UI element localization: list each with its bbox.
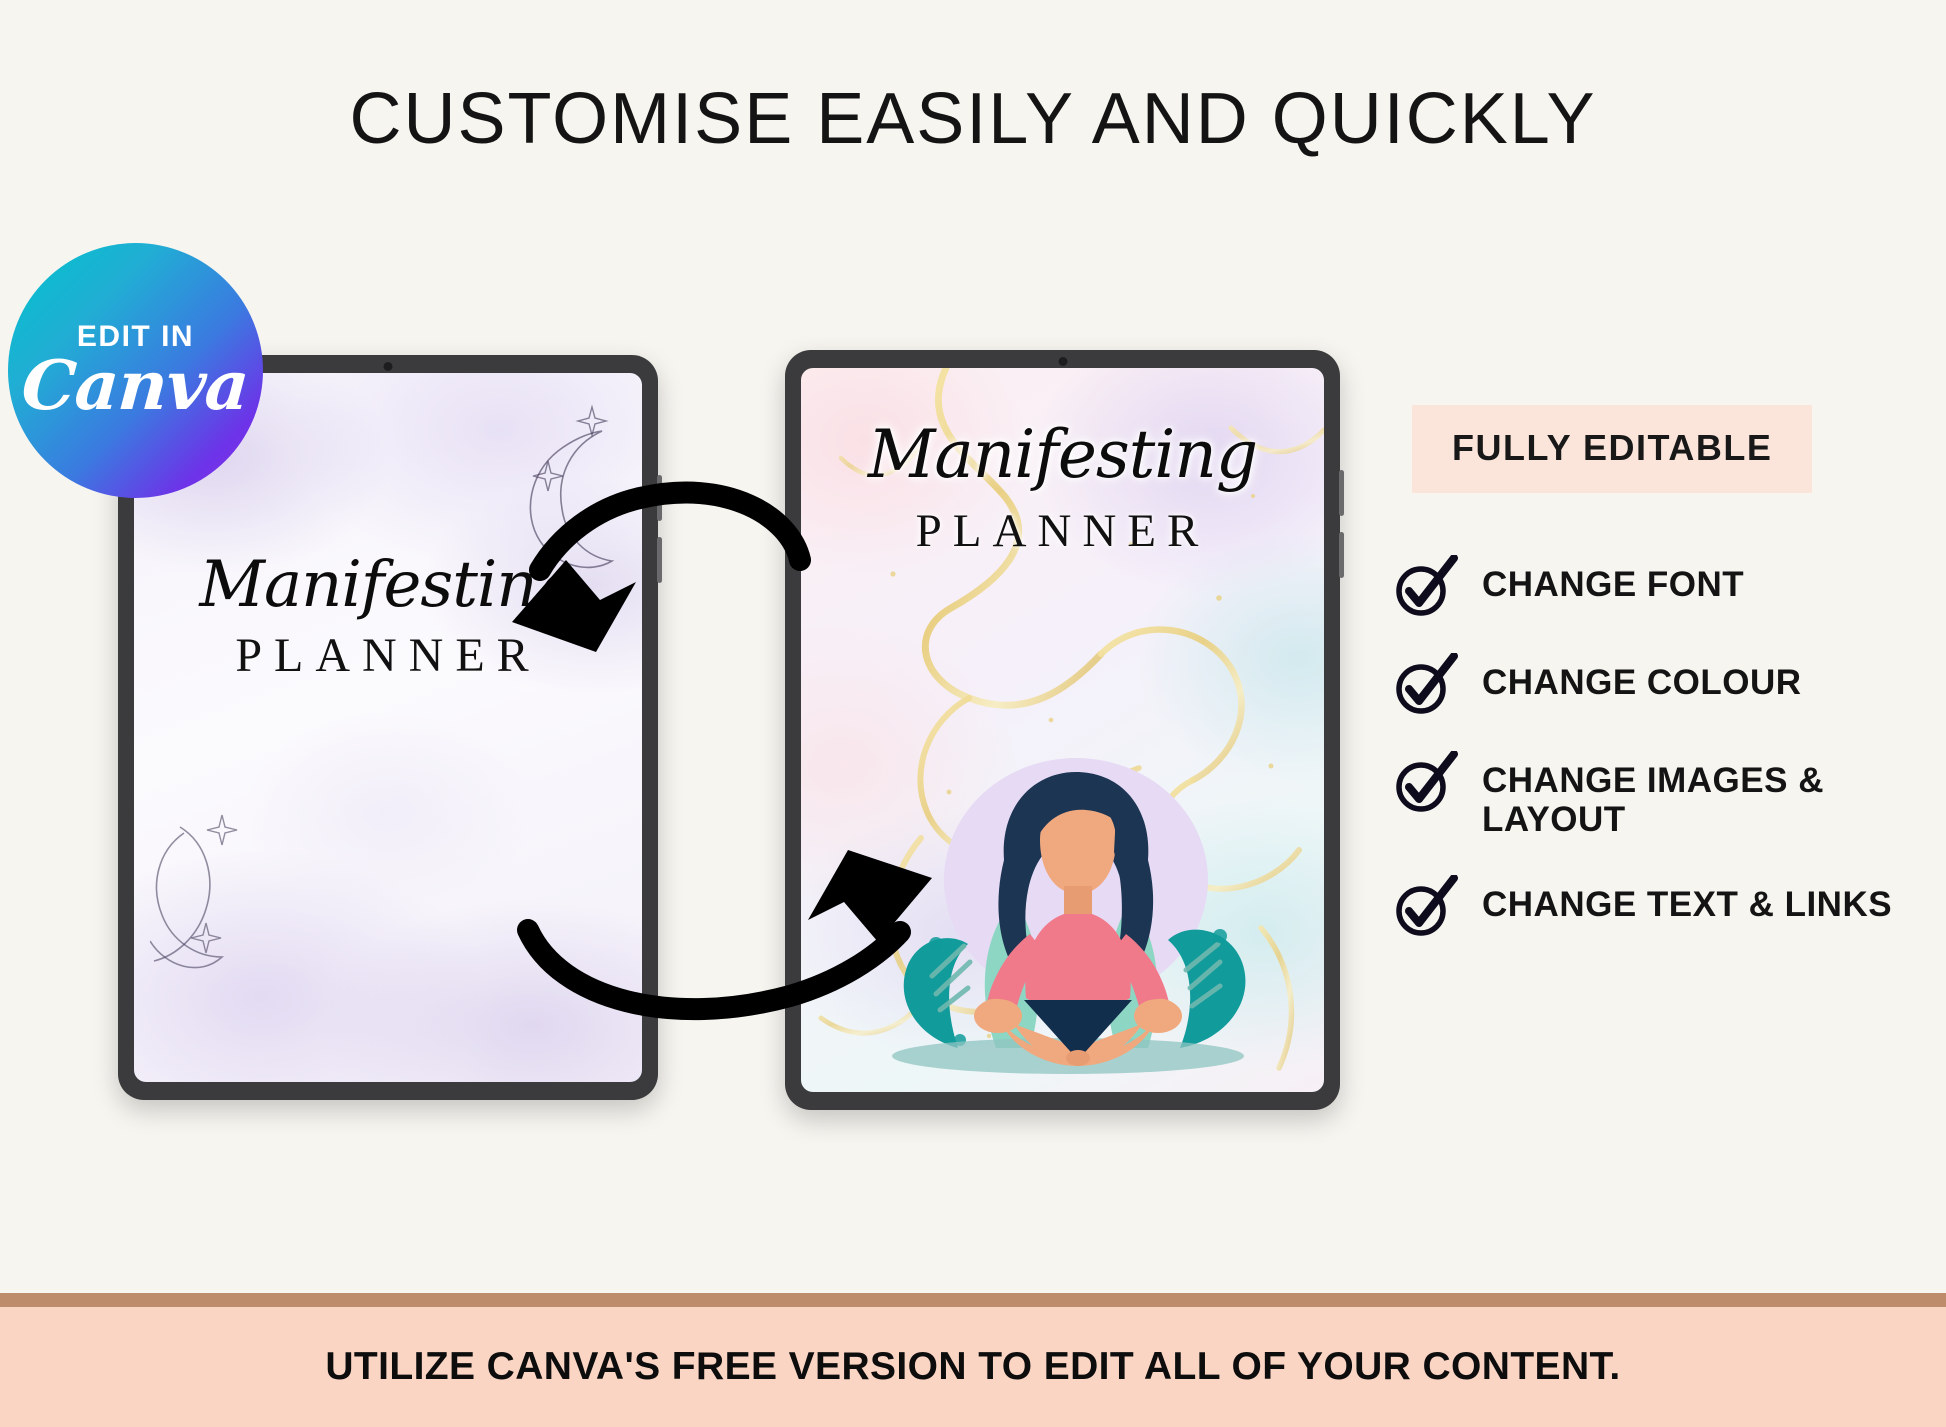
check-circle-icon [1390, 555, 1458, 617]
edit-in-canva-badge[interactable]: EDIT IN Canva [8, 243, 263, 498]
tablet-screen-after: Manifesting PLANNER [801, 368, 1324, 1092]
canva-wordmark: Canva [20, 354, 251, 419]
volume-down-button[interactable] [657, 537, 662, 583]
feature-list: CHANGE FONT CHANGE COLOUR CHANGE IMAGES … [1390, 559, 1910, 937]
feature-item-change-images-layout[interactable]: CHANGE IMAGES & LAYOUT [1390, 755, 1910, 839]
cover-subtitle-before: PLANNER [134, 628, 642, 683]
volume-up-button[interactable] [1339, 470, 1344, 516]
fully-editable-badge: FULLY EDITABLE [1412, 405, 1812, 493]
feature-item-change-text-links[interactable]: CHANGE TEXT & LINKS [1390, 879, 1910, 937]
volume-up-button[interactable] [657, 475, 662, 521]
fully-editable-label: FULLY EDITABLE [1452, 427, 1772, 468]
feature-label: CHANGE COLOUR [1482, 657, 1802, 702]
footer-banner: UTILIZE CANVA'S FREE VERSION TO EDIT ALL… [0, 1307, 1946, 1427]
cover-title-after: Manifesting [801, 416, 1324, 493]
camera-dot-icon [1058, 357, 1067, 366]
footer-divider [0, 1293, 1946, 1307]
page-title: CUSTOMISE EASILY AND QUICKLY [0, 78, 1946, 160]
cover-subtitle-after: PLANNER [801, 504, 1324, 558]
check-circle-icon [1390, 751, 1458, 813]
feature-item-change-colour[interactable]: CHANGE COLOUR [1390, 657, 1910, 715]
check-circle-icon [1390, 875, 1458, 937]
feature-column: FULLY EDITABLE CHANGE FONT CHANGE COLOUR… [1390, 405, 1910, 977]
meditating-woman-illustration [828, 748, 1298, 1078]
tablet-device-after[interactable]: Manifesting PLANNER [785, 350, 1340, 1110]
footer-text: UTILIZE CANVA'S FREE VERSION TO EDIT ALL… [325, 1345, 1620, 1389]
cover-title-before: Manifesting [134, 548, 642, 622]
feature-label: CHANGE FONT [1482, 559, 1744, 604]
camera-dot-icon [384, 362, 393, 371]
feature-label: CHANGE TEXT & LINKS [1482, 879, 1892, 924]
tablet-screen-before: Manifesting PLANNER [134, 373, 642, 1082]
feature-item-change-font[interactable]: CHANGE FONT [1390, 559, 1910, 617]
moon-star-line-art-secondary-icon [150, 811, 300, 1026]
feature-label: CHANGE IMAGES & LAYOUT [1482, 755, 1910, 839]
volume-down-button[interactable] [1339, 532, 1344, 578]
check-circle-icon [1390, 653, 1458, 715]
